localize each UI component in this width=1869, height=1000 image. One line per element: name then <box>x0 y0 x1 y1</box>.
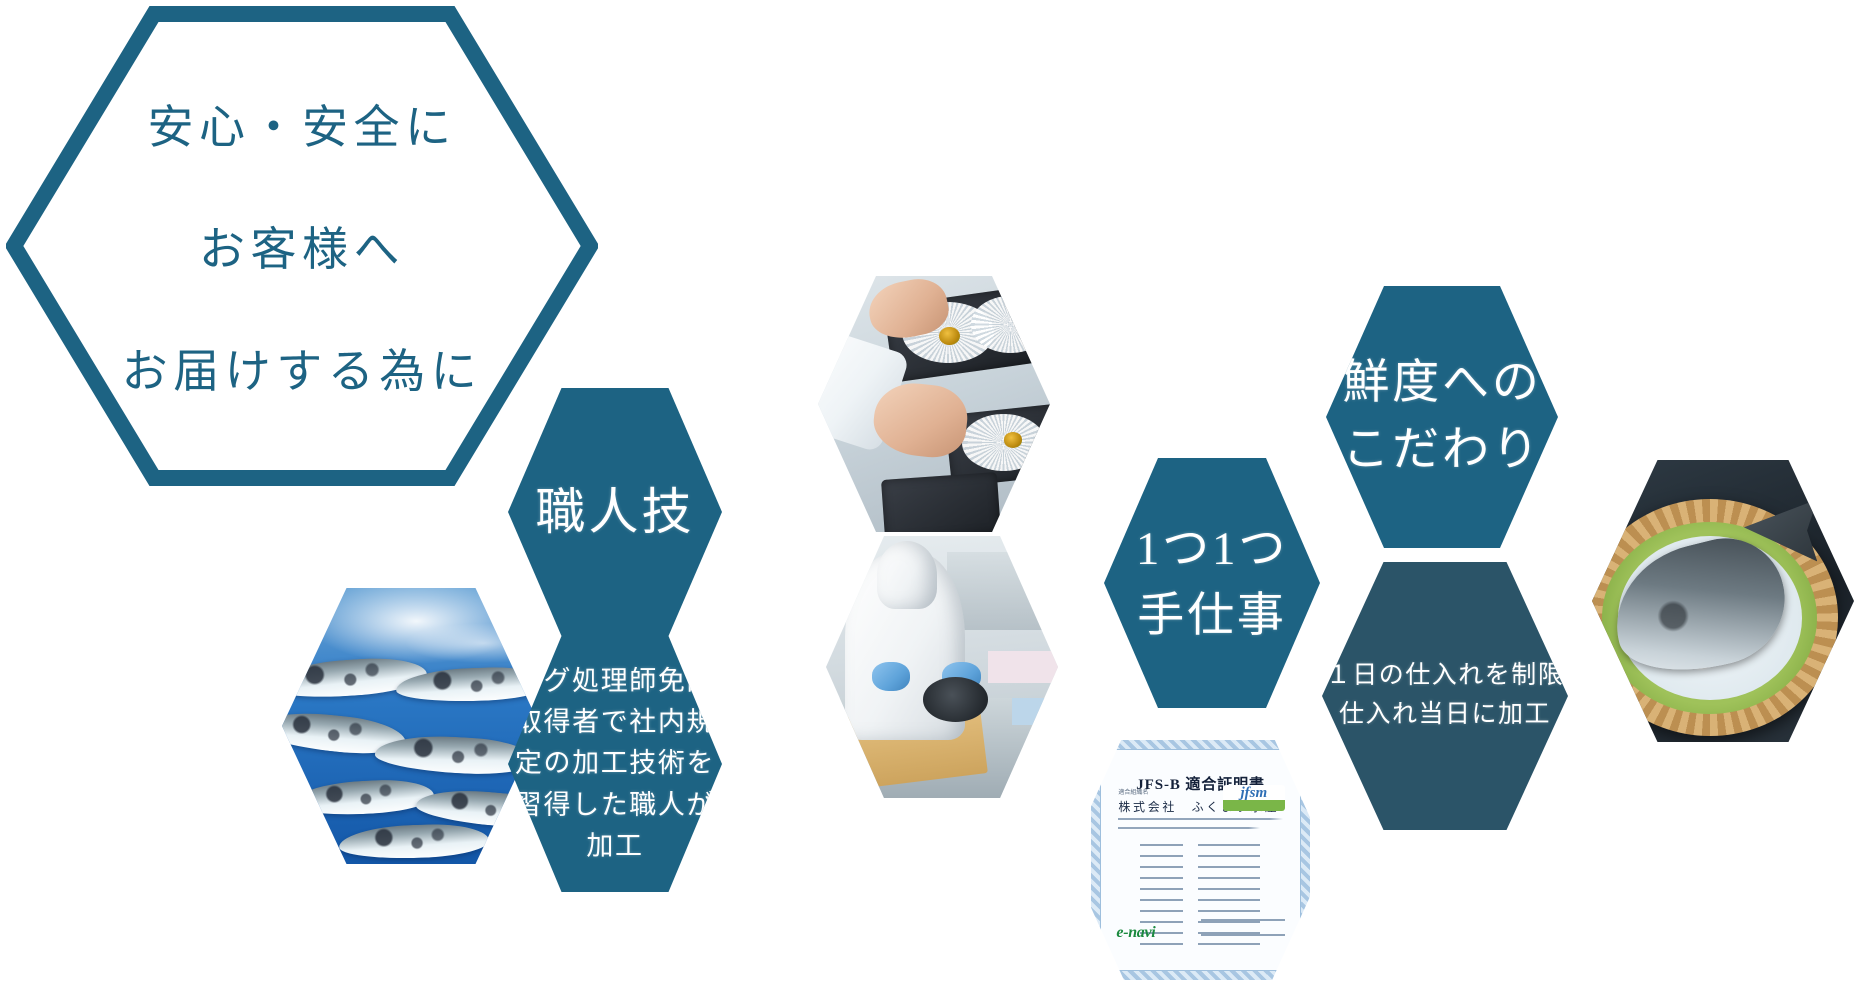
cell-daily-limit[interactable]: １日の仕入れを制限 仕入れ当日に加工 <box>1322 562 1568 830</box>
headline-text: 安心・安全に お客様へ お届けする為に <box>6 6 598 486</box>
cell-craftsmanship-title: 職人技 <box>536 477 695 548</box>
certificate-sheet: JFS-B 適合証明書 適合組織名 株式会社 ふくます水産 jfsm e-nav… <box>1091 740 1309 980</box>
cell-freshness[interactable]: 鮮度への こだわり <box>1326 286 1558 548</box>
certificate-eyebrow: 適合組織名 <box>1118 787 1148 796</box>
tank-water-art <box>282 588 540 864</box>
enavi-logo-icon: e-navi <box>1116 924 1155 942</box>
headline-hexagon: 安心・安全に お客様へ お届けする為に <box>6 6 598 486</box>
iced-fugu-art <box>1592 460 1854 742</box>
certificate-signature-block <box>1201 919 1285 949</box>
cell-handwork[interactable]: 1つ1つ 手仕事 <box>1104 458 1320 708</box>
photo-fugu-swimming-in-tank <box>282 588 540 864</box>
certificate-paragraph <box>1118 818 1282 836</box>
cell-handwork-title: 1つ1つ 手仕事 <box>1136 516 1288 649</box>
cell-freshness-title: 鮮度への こだわり <box>1342 350 1541 483</box>
headline-line-2: お客様へ <box>199 213 405 279</box>
cell-craftsmanship-detail[interactable]: フグ処理師免許 取得者で社内規 定の加工技術を 習得した職人が 加工 <box>508 636 722 892</box>
headline-line-1: 安心・安全に <box>147 91 456 157</box>
processing-room-art <box>826 536 1058 798</box>
jfsm-logo-icon: jfsm <box>1223 785 1285 811</box>
photo-sashimi-packing <box>818 276 1050 532</box>
photo-worker-processing <box>826 536 1058 798</box>
packing-art <box>818 276 1050 532</box>
photo-jfs-certificate: JFS-B 適合証明書 適合組織名 株式会社 ふくます水産 jfsm e-nav… <box>1068 714 1328 1000</box>
certificate-art: JFS-B 適合証明書 適合組織名 株式会社 ふくます水産 jfsm e-nav… <box>1068 714 1328 1000</box>
infographic-canvas: 安心・安全に お客様へ お届けする為に 職人技 フグ処理師免許 取得者で社内規 … <box>0 0 1869 1000</box>
cell-craftsmanship-body: フグ処理師免許 取得者で社内規 定の加工技術を 習得した職人が 加工 <box>515 661 715 866</box>
cell-daily-limit-body: １日の仕入れを制限 仕入れ当日に加工 <box>1326 657 1565 735</box>
photo-fugu-on-ice <box>1592 460 1854 742</box>
headline-line-3: お届けする為に <box>122 335 483 401</box>
